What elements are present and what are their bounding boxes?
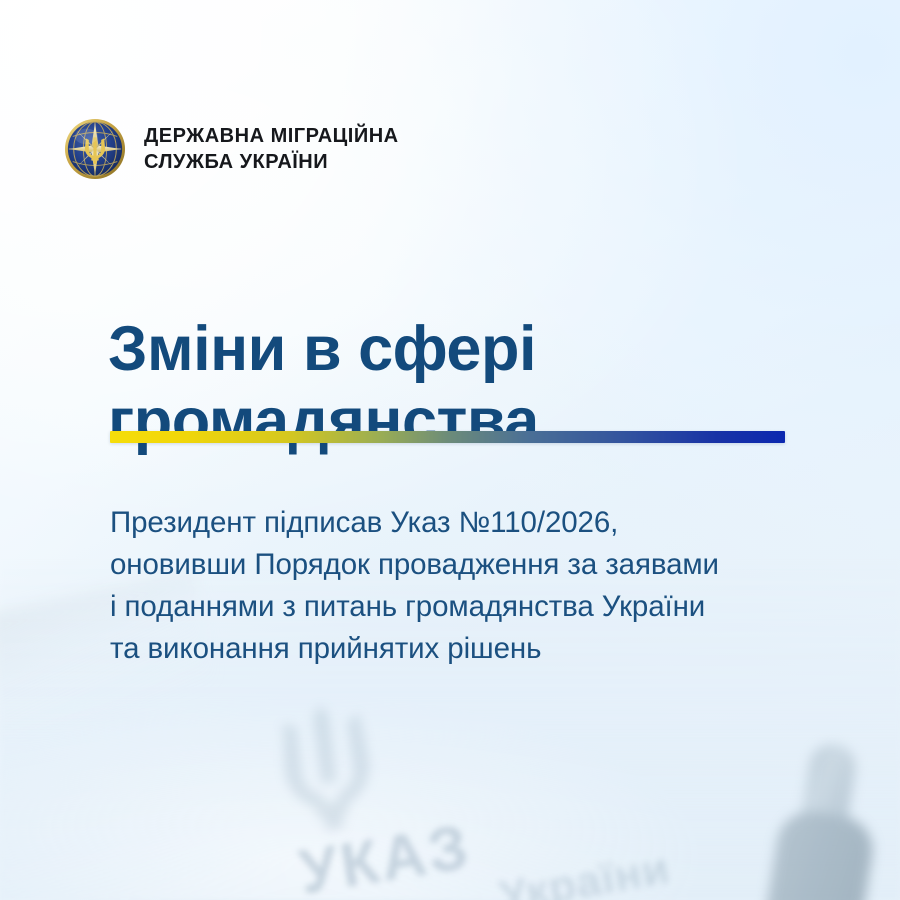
social-card: УКАЗ України — [0, 0, 900, 900]
gradient-divider — [110, 431, 785, 443]
brand-name-text: ДЕРЖАВНА МІГРАЦІЙНА СЛУЖБА УКРАЇНИ — [144, 123, 399, 175]
dms-ukraine-emblem-icon — [64, 118, 126, 180]
card-content: ДЕРЖАВНА МІГРАЦІЙНА СЛУЖБА УКРАЇНИ Зміни… — [0, 0, 900, 900]
brand-lockup: ДЕРЖАВНА МІГРАЦІЙНА СЛУЖБА УКРАЇНИ — [64, 118, 399, 180]
body-paragraph: Президент підписав Указ №110/2026, онови… — [110, 502, 830, 671]
